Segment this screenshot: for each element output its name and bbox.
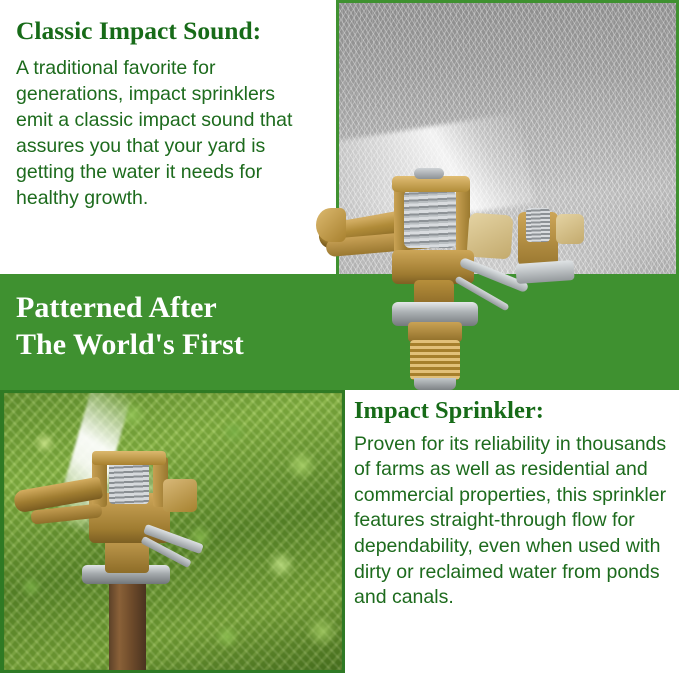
garden-sprinkler-nozzle-wing: [163, 479, 197, 512]
mounting-pipe: [109, 581, 146, 673]
garden-sprinkler-head-top: [92, 451, 166, 465]
banner-line-1: Patterned After: [16, 290, 340, 327]
classic-impact-sound-body: A traditional favorite for generations, …: [16, 56, 316, 212]
product-infographic: Classic Impact Sound: A traditional favo…: [0, 0, 679, 679]
banner-line-2: The World's First: [16, 327, 340, 364]
impact-sprinkler-body: Proven for its reliability in thousands …: [354, 432, 676, 611]
patterned-after-banner: Patterned After The World's First: [0, 274, 340, 390]
garden-sprinkler-spring: [109, 459, 150, 503]
impact-sprinkler-heading: Impact Sprinkler:: [354, 399, 544, 424]
classic-impact-sound-panel: Classic Impact Sound: A traditional favo…: [0, 0, 336, 274]
sprinkler-garden-photo: [0, 390, 345, 673]
classic-impact-sound-heading: Classic Impact Sound:: [16, 18, 261, 44]
banner-background-right: [340, 274, 679, 390]
sprinkler-spray-photo: [336, 0, 679, 274]
impact-sprinkler-panel: Impact Sprinkler: Proven for its reliabi…: [345, 390, 679, 679]
